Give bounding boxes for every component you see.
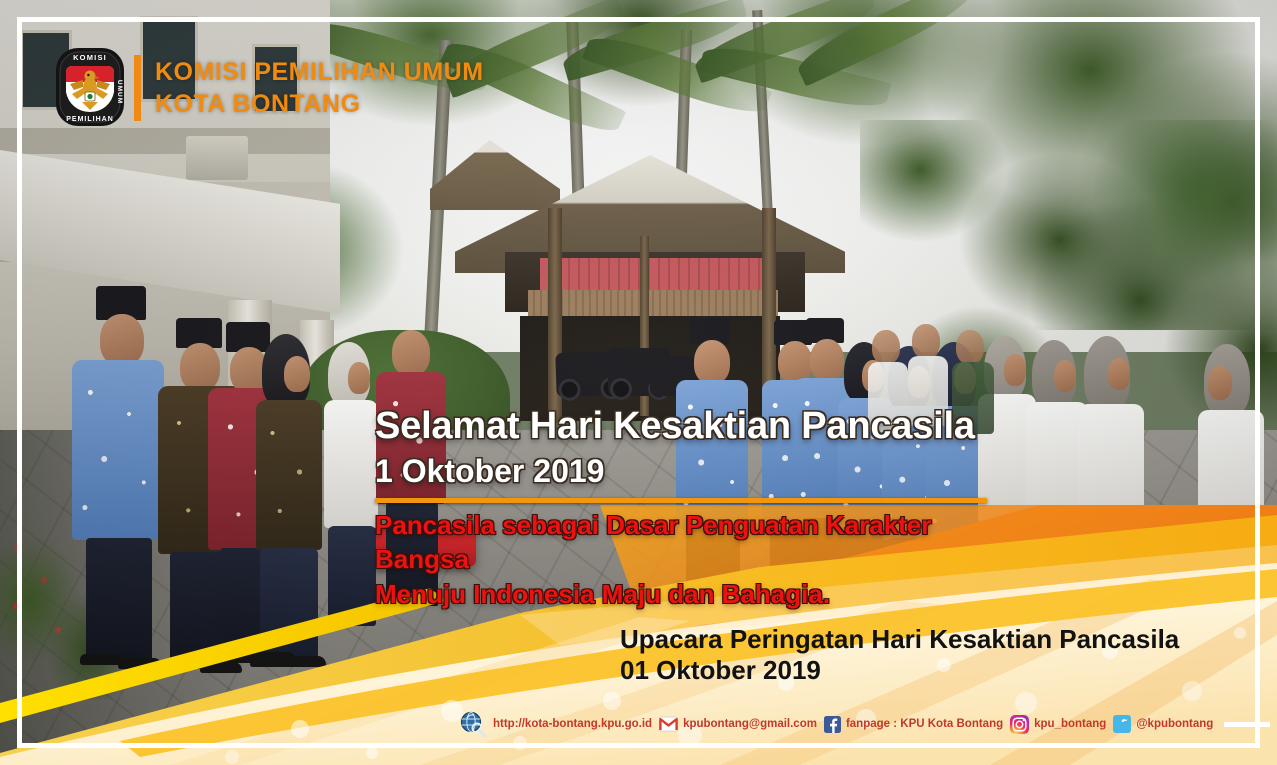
website-url: http://kota-bontang.kpu.go.id xyxy=(493,718,652,730)
email-address: kpubontang@gmail.com xyxy=(683,718,817,730)
kpu-logo-icon: KOMISI PEMILIHAN UMUM xyxy=(52,42,128,134)
head xyxy=(100,314,144,366)
head xyxy=(392,330,430,376)
head xyxy=(810,339,844,381)
header-text: KOMISI PEMILIHAN UMUM KOTA BONTANG xyxy=(155,56,484,120)
head xyxy=(912,324,940,358)
organization-name-line1: KOMISI PEMILIHAN UMUM xyxy=(155,56,484,88)
banner: KOMISI PEMILIHAN UMUM KOMISI PEMILIHAN U… xyxy=(0,0,1277,765)
head xyxy=(956,330,984,364)
gazebo-red-panel xyxy=(540,258,770,290)
gazebo-thatch xyxy=(528,290,778,316)
head xyxy=(348,362,370,394)
facebook-icon xyxy=(824,716,841,733)
facebook-page: fanpage : KPU Kota Bontang xyxy=(846,718,1003,730)
head xyxy=(1108,358,1130,390)
head xyxy=(180,343,220,391)
theme-line-1: Pancasila sebagai Dasar Penguatan Karakt… xyxy=(375,508,1015,577)
svg-text:PEMILIHAN: PEMILIHAN xyxy=(66,116,114,123)
header-accent-rule xyxy=(134,55,141,121)
head xyxy=(872,330,900,364)
caption-line-2: 01 Oktober 2019 xyxy=(620,655,1179,686)
footer-tail-rule xyxy=(1224,722,1270,727)
twitter-contact[interactable]: @kpubontang xyxy=(1113,715,1213,733)
organization-name-line2: KOTA BONTANG xyxy=(155,88,484,120)
headline-block: Selamat Hari Kesaktian Pancasila 1 Oktob… xyxy=(375,405,1015,611)
twitter-handle: @kpubontang xyxy=(1136,718,1213,730)
instagram-icon xyxy=(1010,715,1029,734)
event-caption: Upacara Peringatan Hari Kesaktian Pancas… xyxy=(620,624,1179,686)
head xyxy=(1208,366,1232,400)
commemoration-date: 1 Oktober 2019 xyxy=(375,452,1015,490)
head xyxy=(284,356,310,392)
head xyxy=(1054,360,1076,392)
svg-text:KOMISI: KOMISI xyxy=(73,53,107,62)
website-contact[interactable]: http://kota-bontang.kpu.go.id xyxy=(458,711,652,737)
social-contact-bar: http://kota-bontang.kpu.go.id kpubontang… xyxy=(458,711,1270,737)
head xyxy=(1004,354,1026,386)
wheel xyxy=(610,378,632,400)
theme-line-2: Menuju Indonesia Maju dan Bahagia. xyxy=(375,577,1015,611)
headline-divider xyxy=(375,498,987,503)
instagram-handle: kpu_bontang xyxy=(1034,718,1106,730)
globe-icon xyxy=(458,711,488,737)
header: KOMISI PEMILIHAN UMUM KOMISI PEMILIHAN U… xyxy=(52,42,484,134)
facebook-contact[interactable]: fanpage : KPU Kota Bontang xyxy=(824,716,1003,733)
instagram-contact[interactable]: kpu_bontang xyxy=(1010,715,1106,734)
svg-text:UMUM: UMUM xyxy=(116,80,123,104)
email-contact[interactable]: kpubontang@gmail.com xyxy=(659,716,817,732)
air-conditioner-unit xyxy=(186,136,248,180)
greeting-headline: Selamat Hari Kesaktian Pancasila xyxy=(375,405,1015,448)
twitter-icon xyxy=(1113,715,1131,733)
head xyxy=(778,341,812,383)
caption-line-1: Upacara Peringatan Hari Kesaktian Pancas… xyxy=(620,624,1179,655)
head xyxy=(694,340,730,384)
gmail-icon xyxy=(659,716,678,732)
